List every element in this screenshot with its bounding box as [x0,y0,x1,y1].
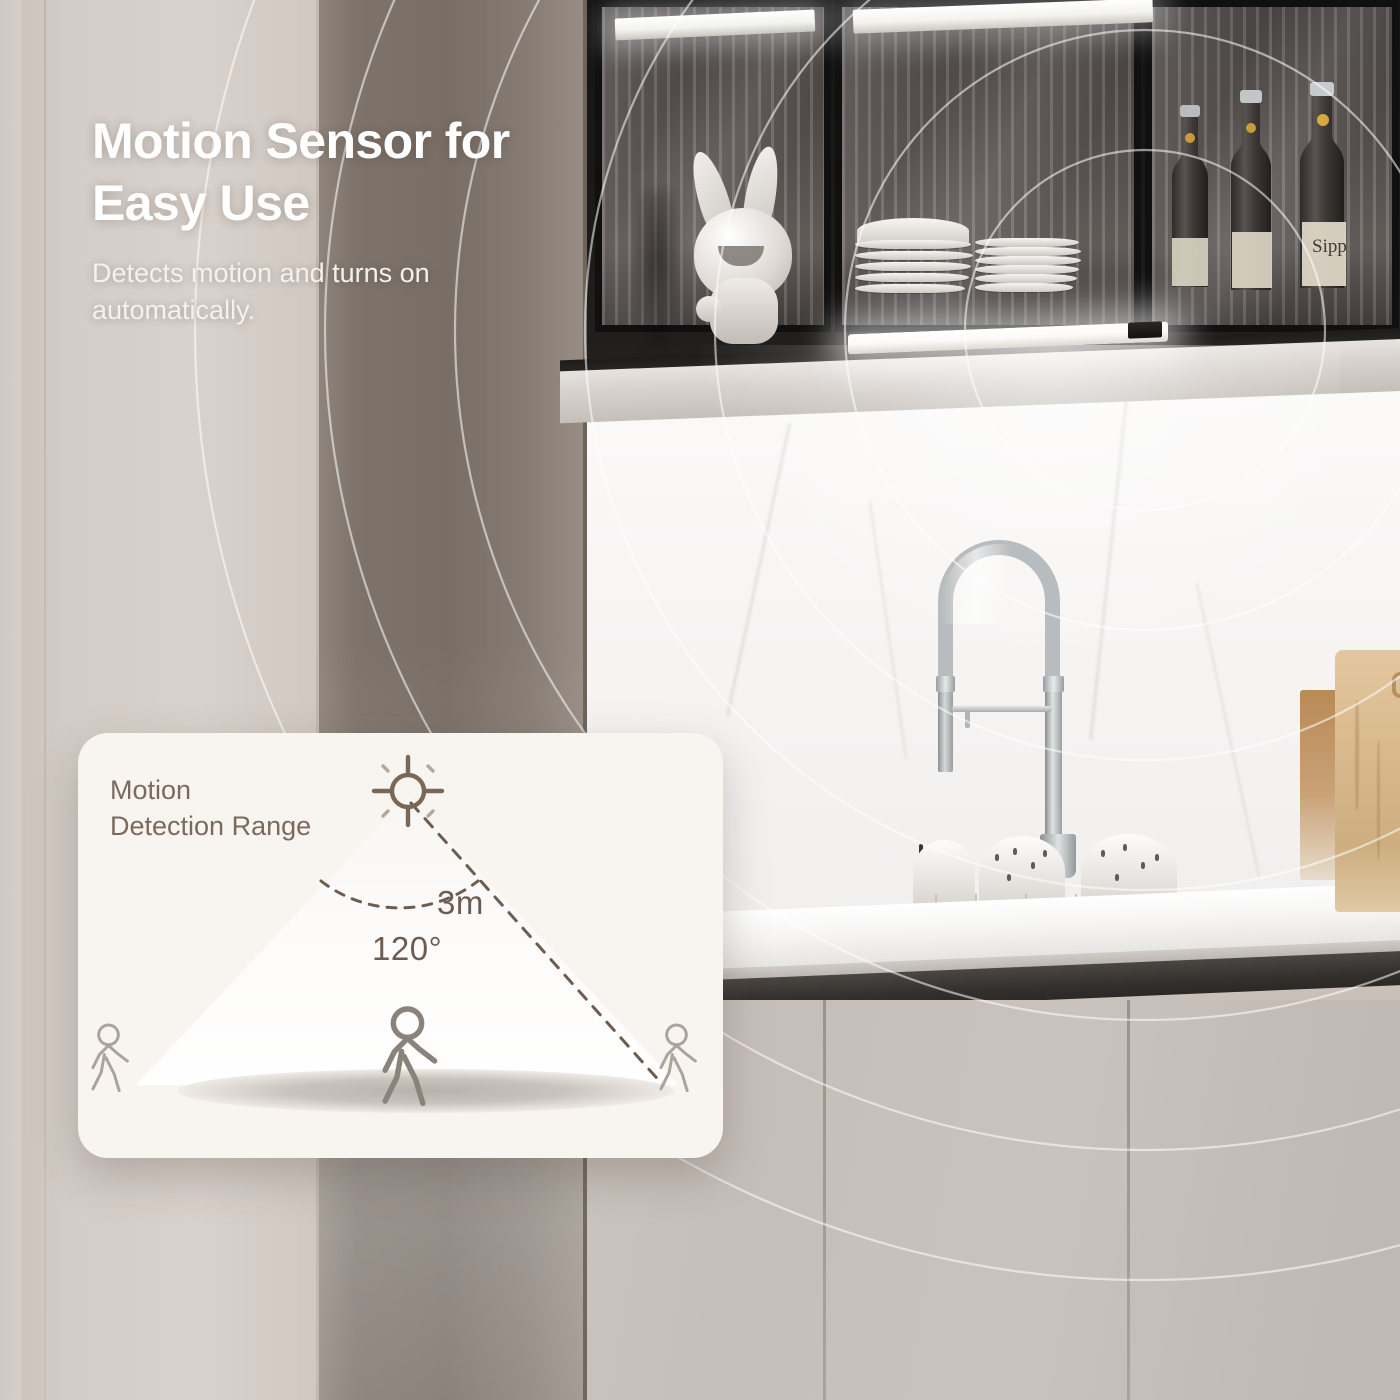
distance-label: 3m [437,884,484,922]
plate [975,283,1073,292]
bottle-2 [1231,90,1272,290]
faucet-pin [965,710,970,728]
angle-label: 120° [372,930,442,968]
plate [855,262,971,271]
plate [855,251,973,260]
plate [975,247,1081,256]
plate [975,265,1079,274]
faucet-gooseneck [938,540,1060,690]
faucet-ring [936,676,955,692]
bunny-shadow [630,190,686,360]
bottle-label-text: Sipp [1312,236,1347,257]
plate [855,284,965,293]
sun-sensor-icon [374,757,442,825]
faucet-column-left [938,682,953,772]
bottle-1 [1172,105,1208,287]
plate-stack-right [975,238,1085,294]
faucet-ring [1043,676,1064,692]
plate-speckled-1 [979,836,1065,906]
bottle-3: Sipp [1300,82,1347,288]
bunny-paw [696,296,722,322]
product-marketing-image: Sipp [0,0,1400,1400]
walking-person-left-icon [93,1025,127,1091]
page-title: Motion Sensor for Easy Use [92,110,612,234]
cabinet-seam [1127,1000,1130,1400]
cabinet-seam [44,0,46,1400]
cutting-board-handle-hole [1392,672,1400,698]
cutting-board-front [1335,650,1400,912]
cabinet-seam [823,1000,826,1400]
plate-stack-left [855,232,975,294]
plate [975,238,1079,247]
plate [855,240,971,249]
bottle-group: Sipp [1160,80,1400,290]
motion-sensor-module [1128,321,1162,338]
walking-person-right-icon [661,1025,695,1091]
page-subtitle: Detects motion and turns on automaticall… [92,255,522,330]
plate-striped [913,840,975,906]
plate [975,256,1081,265]
plate [855,273,969,282]
floor-ellipse [178,1069,674,1113]
bunny-figurine [690,150,800,340]
plate [975,274,1077,283]
